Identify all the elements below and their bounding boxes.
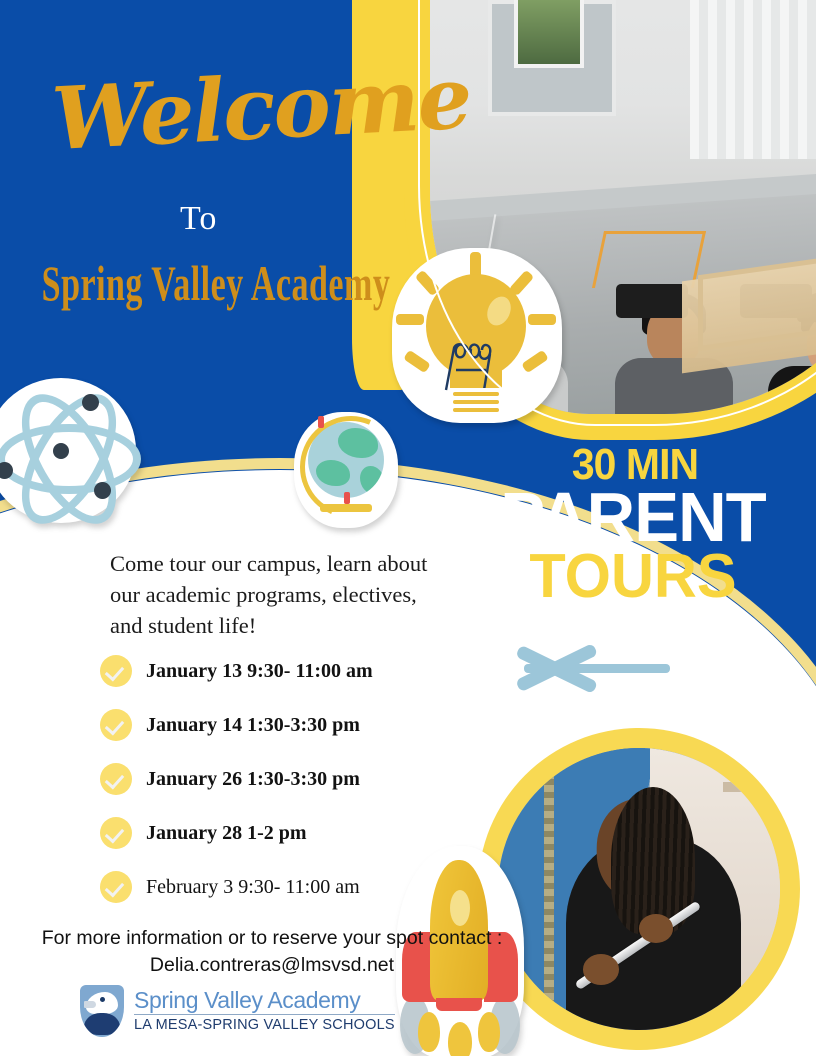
arrow-left-icon xyxy=(500,640,670,696)
globe-icon xyxy=(294,412,398,528)
tour-date-label: January 14 1:30-3:30 pm xyxy=(146,714,360,737)
student-playing-flute-photo xyxy=(498,748,780,1030)
tour-date-label: January 13 9:30- 11:00 am xyxy=(146,660,373,683)
flyer-poster: Welcome To Spring Valley Academy 30 MIN … xyxy=(0,0,816,1056)
check-icon xyxy=(100,871,132,903)
school-name-heading: Spring Valley Academy xyxy=(16,258,416,313)
bottom-photo-yellow-ring xyxy=(478,728,800,1050)
to-label: To xyxy=(180,200,217,238)
list-item: February 3 9:30- 11:00 am xyxy=(100,871,520,903)
check-icon xyxy=(100,709,132,741)
check-icon xyxy=(100,763,132,795)
list-item: January 28 1-2 pm xyxy=(100,817,520,849)
school-logo: Spring Valley Academy LA MESA-SPRING VAL… xyxy=(80,985,395,1037)
logo-sub-text: LA MESA-SPRING VALLEY SCHOOLS xyxy=(134,1018,395,1033)
lightbulb-icon xyxy=(392,248,562,423)
headline-tours: TOURS xyxy=(465,548,801,607)
contact-block: For more information or to reserve your … xyxy=(22,925,522,980)
list-item: January 13 9:30- 11:00 am xyxy=(100,655,520,687)
check-icon xyxy=(100,817,132,849)
tour-date-label: February 3 9:30- 11:00 am xyxy=(146,876,360,899)
contact-line: For more information or to reserve your … xyxy=(22,925,522,952)
tour-date-label: January 26 1:30-3:30 pm xyxy=(146,768,360,791)
check-icon xyxy=(100,655,132,687)
atom-icon xyxy=(0,378,136,523)
headline-parent: PARENT xyxy=(465,484,801,551)
logo-main-text: Spring Valley Academy xyxy=(134,989,395,1015)
list-item: January 14 1:30-3:30 pm xyxy=(100,709,520,741)
welcome-heading: Welcome xyxy=(50,63,404,159)
contact-email[interactable]: Delia.contreras@lmsvsd.net xyxy=(22,952,522,979)
list-item: January 26 1:30-3:30 pm xyxy=(100,763,520,795)
tour-dates-list: January 13 9:30- 11:00 am January 14 1:3… xyxy=(100,655,520,925)
intro-paragraph: Come tour our campus, learn about our ac… xyxy=(110,548,440,641)
eagle-shield-icon xyxy=(80,985,124,1037)
tour-date-label: January 28 1-2 pm xyxy=(146,822,307,845)
